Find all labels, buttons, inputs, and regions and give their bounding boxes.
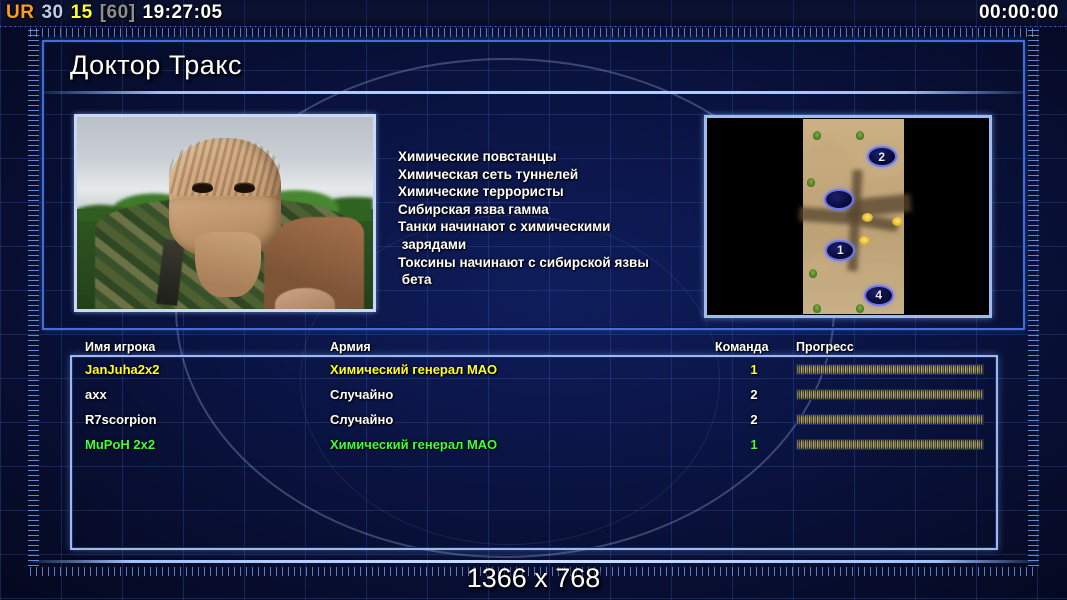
description-line: Химическая сеть туннелей	[398, 166, 698, 184]
map-tree-icon	[807, 178, 815, 187]
ruler-top	[30, 28, 1037, 37]
fps-value: 15	[71, 2, 93, 23]
resolution-label: 1366 x 768	[0, 563, 1067, 594]
player-progress-fill	[797, 390, 983, 399]
table-row[interactable]: MuPoH 2x2Химический генерал МАО1	[72, 437, 996, 462]
system-clock: 19:27:05	[143, 2, 223, 23]
player-team: 1	[744, 437, 764, 452]
table-row[interactable]: R7scorpionСлучайно2	[72, 412, 996, 437]
game-lobby-screen: UR3015[60]19:27:05 00:00:00 Доктор Тракс…	[0, 0, 1067, 600]
map-tree-icon	[856, 304, 864, 313]
network-stats: UR3015[60]19:27:05	[6, 2, 230, 24]
player-progress-fill	[797, 365, 983, 374]
table-row[interactable]: axxСлучайно2	[72, 387, 996, 412]
player-progress-fill	[797, 415, 983, 424]
map-terrain: 214	[803, 119, 904, 314]
player-progress-bar	[796, 439, 984, 450]
player-army: Случайно	[330, 412, 393, 427]
player-team: 2	[744, 412, 764, 427]
player-army: Случайно	[330, 387, 393, 402]
portrait-hand	[275, 288, 334, 312]
player-army: Химический генерал МАО	[330, 362, 497, 377]
map-tree-icon	[809, 269, 817, 278]
map-resource-icon	[862, 213, 873, 222]
description-line: Токсины начинают с сибирской язвы бета	[398, 254, 698, 289]
table-row[interactable]: JanJuha2x2Химический генерал МАО1	[72, 362, 996, 387]
column-header-player-name: Имя игрока	[85, 340, 155, 354]
player-progress-bar	[796, 414, 984, 425]
player-progress-bar	[796, 389, 984, 400]
player-table-body: JanJuha2x2Химический генерал МАО1axxСлуч…	[72, 362, 996, 462]
portrait-scarf-tail	[195, 232, 260, 297]
player-name: R7scorpion	[85, 412, 157, 427]
general-description: Химические повстанцы Химическая сеть тун…	[398, 148, 698, 289]
player-progress-fill	[797, 440, 983, 449]
player-army: Химический генерал МАО	[330, 437, 497, 452]
page-title: Доктор Тракс	[70, 50, 242, 81]
ruler-left	[28, 30, 39, 570]
title-divider	[44, 91, 1023, 94]
player-team: 1	[744, 362, 764, 377]
description-line: Сибирская язва гамма	[398, 201, 698, 219]
player-table-header: Имя игрока Армия Команда Прогресс	[70, 340, 998, 356]
map-preview[interactable]: 214	[704, 115, 992, 318]
general-portrait	[74, 114, 376, 312]
map-resource-icon	[859, 236, 870, 245]
map-start-position[interactable]: 2	[867, 146, 897, 167]
map-start-position[interactable]: 4	[864, 285, 894, 306]
description-line: Химические террористы	[398, 183, 698, 201]
map-tree-icon	[813, 131, 821, 140]
portrait-turban-folds	[169, 138, 281, 196]
match-timer: 00:00:00	[979, 2, 1059, 24]
column-header-army: Армия	[330, 340, 371, 354]
map-start-position[interactable]: 1	[825, 240, 855, 261]
player-name: JanJuha2x2	[85, 362, 159, 377]
description-line: Танки начинают с химическими зарядами	[398, 218, 698, 253]
player-name: MuPoH 2x2	[85, 437, 155, 452]
map-tree-icon	[856, 131, 864, 140]
map-preview-inner: 214	[708, 119, 988, 314]
fps-max-value: [60]	[100, 2, 136, 23]
map-resource-icon	[892, 217, 903, 226]
player-progress-bar	[796, 364, 984, 375]
player-name: axx	[85, 387, 107, 402]
ur-label: UR	[6, 2, 34, 23]
status-bar: UR3015[60]19:27:05 00:00:00	[0, 0, 1067, 26]
description-line: Химические повстанцы	[398, 148, 698, 166]
column-header-progress: Прогресс	[796, 340, 854, 354]
portrait-eye-left	[192, 184, 213, 193]
column-header-team: Команда	[715, 340, 769, 354]
ping-value: 30	[41, 2, 63, 23]
map-tree-icon	[813, 304, 821, 313]
player-team: 2	[744, 387, 764, 402]
ruler-right	[1028, 30, 1039, 570]
portrait-eye-right	[234, 184, 255, 193]
